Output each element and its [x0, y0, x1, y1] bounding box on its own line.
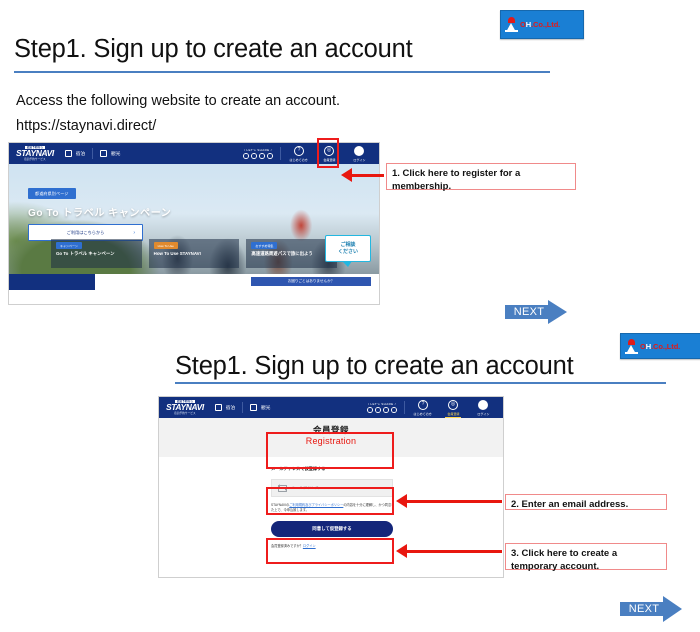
member-circle-icon: ◎ — [324, 146, 334, 156]
nav-item-sightseeing-label: 観光 — [111, 151, 120, 157]
nav-item-sightseeing-2[interactable]: 観光 — [250, 404, 270, 411]
registration-title-band: 会員登録 Registration — [159, 418, 503, 457]
lighthouse-icon — [625, 339, 638, 354]
nav-item-sightseeing-label: 観光 — [261, 405, 270, 411]
staynavi-logo[interactable]: 宿泊予約なら STAYNAVI 宿泊予約サービス — [16, 146, 54, 162]
next-button-label: NEXT — [620, 596, 682, 622]
site-footer-strip: お困りごとはありませんか？ — [9, 274, 379, 290]
nav-action-register-2[interactable]: ◎ 会員登録 — [442, 400, 464, 416]
terms-text-prefix: STAYNAVIの — [271, 503, 289, 507]
nav-action-login-label: ログイン — [477, 411, 489, 416]
member-circle-icon: ◎ — [448, 400, 458, 410]
registration-title-jp: 会員登録 — [306, 425, 356, 436]
nav-divider — [242, 402, 243, 413]
logo-subtitle: 宿泊予約サービス — [24, 158, 46, 161]
company-badge: OH.Co.,Ltd. — [500, 10, 584, 39]
nav-divider-2 — [404, 401, 405, 414]
share-icons-2[interactable] — [367, 407, 397, 413]
title-underline-2 — [175, 382, 666, 384]
promo-card-title: How To Use STAYNAVI — [154, 251, 201, 256]
share-group-2: \ LET's SHARE / — [367, 402, 397, 413]
nav-action-login-2[interactable]: ログイン — [472, 400, 494, 416]
submit-registration-button[interactable]: 同意して仮登録する — [271, 521, 393, 537]
next-button[interactable]: NEXT — [505, 300, 567, 324]
logo-wordmark: STAYNAVI — [16, 149, 54, 158]
share-group: \ LET's SHARE / — [243, 148, 273, 159]
nav-action-login-label: ログイン — [353, 157, 365, 162]
email-input-placeholder: メールアドレス — [291, 485, 319, 491]
calendar-icon — [65, 150, 72, 157]
question-circle-icon: ? — [418, 400, 428, 410]
site-navbar: 宿泊予約なら STAYNAVI 宿泊予約サービス 宿泊 観光 \ LET's S… — [9, 143, 379, 164]
hero-headline: Go To トラベル キャンペーン — [28, 204, 171, 219]
share-icons[interactable] — [243, 153, 273, 159]
promo-card[interactable]: キャンペーン Go To トラベル キャンペーン — [51, 239, 142, 268]
logo-subtitle: 宿泊予約サービス — [174, 412, 196, 415]
logo-wordmark: STAYNAVI — [166, 403, 204, 412]
line-icon[interactable] — [259, 153, 265, 159]
callout-1: 1. Click here to register for a membersh… — [386, 163, 576, 190]
promo-card-title: 高速道路周遊パスで旅に出よう — [251, 251, 312, 257]
site-navbar-2: 宿泊予約なら STAYNAVI 宿泊予約サービス 宿泊 観光 \ LET's S… — [159, 397, 503, 418]
nav-item-lodging-label: 宿泊 — [76, 151, 85, 157]
person-circle-icon — [354, 146, 364, 156]
nav-item-sightseeing[interactable]: 観光 — [100, 150, 120, 157]
login-link[interactable]: ログイン — [303, 544, 316, 548]
promo-card[interactable]: おすすめ特集 高速道路周遊パスで旅に出よう — [246, 239, 337, 268]
title-underline — [14, 71, 550, 73]
instagram-icon[interactable] — [391, 407, 397, 413]
page-title-2: Step1. Sign up to create an account — [175, 352, 573, 381]
hero-tag: 都道府県別ページ — [28, 188, 76, 199]
staynavi-homepage-screenshot: 宿泊予約なら STAYNAVI 宿泊予約サービス 宿泊 観光 \ LET's S… — [8, 142, 380, 305]
nav-action-login[interactable]: ログイン — [348, 146, 370, 162]
promo-card-pill: キャンペーン — [56, 242, 82, 249]
nav-action-register-label: 会員登録 — [447, 411, 459, 416]
lighthouse-icon — [505, 17, 518, 32]
company-badge-2: OH.Co.,Ltd. — [620, 333, 700, 359]
company-badge-text: OH.Co.,Ltd. — [520, 20, 560, 29]
twitter-icon[interactable] — [243, 153, 249, 159]
footer-block — [9, 274, 95, 290]
camera-icon — [250, 404, 257, 411]
promo-card-pill: おすすめ特集 — [251, 242, 277, 249]
promo-card[interactable]: How To Use How To Use STAYNAVI — [149, 239, 240, 268]
nav-item-lodging-label: 宿泊 — [226, 405, 235, 411]
company-badge-text-2: OH.Co.,Ltd. — [640, 342, 680, 351]
submit-registration-label: 同意して仮登録する — [312, 526, 351, 532]
next-button-2[interactable]: NEXT — [620, 596, 682, 622]
question-circle-icon: ? — [294, 146, 304, 156]
nav-divider — [92, 148, 93, 159]
nav-action-first-time-2[interactable]: ? はじめての方 — [412, 400, 434, 416]
mail-icon — [278, 485, 287, 492]
registration-title: 会員登録 Registration — [306, 425, 356, 447]
hero-cta-label: ご利用はこちらから — [67, 230, 105, 236]
nav-actions: ? はじめての方 ◎ 会員登録 ログイン — [288, 146, 370, 162]
twitter-icon[interactable] — [367, 407, 373, 413]
consult-bubble[interactable]: ご相談 ください — [325, 235, 371, 262]
chevron-right-icon: › — [133, 230, 135, 236]
facebook-icon[interactable] — [375, 407, 381, 413]
nav-item-lodging[interactable]: 宿泊 — [65, 150, 85, 157]
promo-cards: キャンペーン Go To トラベル キャンペーン How To Use How … — [9, 239, 379, 268]
nav-action-first-time-label: はじめての方 — [290, 157, 308, 162]
nav-item-lodging-2[interactable]: 宿泊 — [215, 404, 235, 411]
instruction-text: Access the following website to create a… — [16, 93, 340, 109]
terms-link[interactable]: ご利用規約及びプライバシーポリシー — [289, 503, 343, 507]
callout-3: 3. Click here to create a temporary acco… — [505, 543, 667, 570]
instagram-icon[interactable] — [267, 153, 273, 159]
staynavi-logo-2[interactable]: 宿泊予約なら STAYNAVI 宿泊予約サービス — [166, 400, 204, 416]
facebook-icon[interactable] — [251, 153, 257, 159]
calendar-icon — [215, 404, 222, 411]
next-button-label: NEXT — [505, 300, 567, 324]
nav-action-register-label: 会員登録 — [323, 157, 335, 162]
person-circle-icon — [478, 400, 488, 410]
email-field-label: メールアドレスで仮登録する — [271, 466, 325, 472]
camera-icon — [100, 150, 107, 157]
promo-card-title: Go To トラベル キャンペーン — [56, 251, 114, 257]
registration-form: メールアドレスで仮登録する メールアドレス STAYNAVIのご利用規約及びプラ… — [159, 457, 503, 578]
chat-prompt-bar[interactable]: お困りごとはありませんか？ — [251, 277, 371, 286]
hero-banner: 都道府県別ページ Go To トラベル キャンペーン ご利用はこちらから › キ… — [9, 164, 379, 274]
nav-actions-2: ? はじめての方 ◎ 会員登録 ログイン — [412, 400, 494, 416]
nav-action-first-time[interactable]: ? はじめての方 — [288, 146, 310, 162]
nav-divider-2 — [280, 147, 281, 160]
consult-bubble-line2: ください — [338, 249, 358, 255]
website-url: https://staynavi.direct/ — [16, 118, 156, 134]
nav-action-first-time-label: はじめての方 — [414, 411, 432, 416]
terms-text: STAYNAVIのご利用規約及びプライバシーポリシーの内容を十分に理解し、かつ同… — [271, 503, 395, 513]
share-caption: \ LET's SHARE / — [368, 402, 396, 406]
login-note: 会員登録済みですか？ログイン — [271, 543, 316, 548]
nav-action-register[interactable]: ◎ 会員登録 — [318, 146, 340, 162]
promo-card-pill: How To Use — [154, 242, 178, 249]
callout-2: 2. Enter an email address. — [505, 494, 667, 510]
page-title: Step1. Sign up to create an account — [14, 35, 412, 64]
registration-title-en: Registration — [306, 436, 356, 447]
line-icon[interactable] — [383, 407, 389, 413]
email-input[interactable]: メールアドレス — [271, 479, 393, 497]
badge-suffix: .Co.,Ltd. — [651, 342, 680, 351]
badge-suffix: .Co.,Ltd. — [531, 20, 560, 29]
share-caption: \ LET's SHARE / — [244, 148, 272, 152]
login-note-text: 会員登録済みですか？ — [271, 544, 303, 548]
